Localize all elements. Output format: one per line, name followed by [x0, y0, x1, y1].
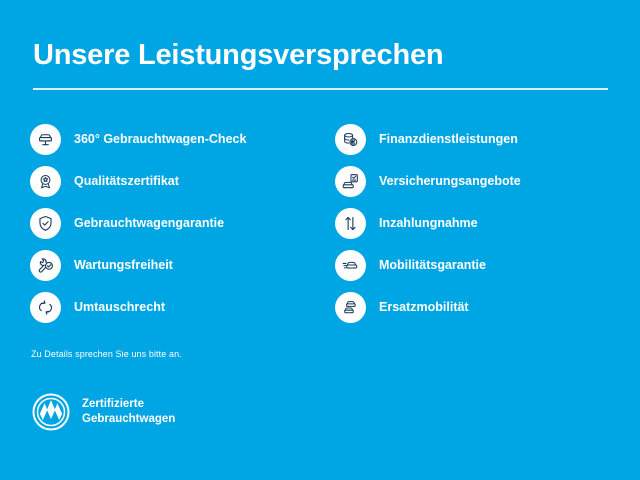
- promise-label: Versicherungsangebote: [379, 174, 521, 189]
- promise-item-gebrauchtwagengarantie[interactable]: Gebrauchtwagengarantie: [30, 202, 330, 244]
- title-divider: [33, 88, 608, 90]
- brand-text-line1: Zertifizierte: [82, 397, 175, 412]
- promise-label: Qualitätszertifikat: [74, 174, 179, 189]
- promise-item-ersatzmobilitaet[interactable]: Ersatzmobilität: [335, 286, 635, 328]
- promise-label: Ersatzmobilität: [379, 300, 469, 315]
- up-down-arrows-icon: [335, 208, 366, 239]
- wrench-check-icon: [30, 250, 61, 281]
- brand-text: Zertifizierte Gebrauchtwagen: [82, 397, 175, 427]
- promise-item-qualitaetszertifikat[interactable]: Qualitätszertifikat: [30, 160, 330, 202]
- promise-column-left: 360° Gebrauchtwagen-Check Qualitätszerti…: [30, 118, 330, 328]
- promises-slide: Unsere Leistungsversprechen 360° Gebrauc…: [0, 0, 640, 480]
- coins-icon: [335, 124, 366, 155]
- brand-text-line2: Gebrauchtwagen: [82, 412, 175, 427]
- car-document-icon: [335, 166, 366, 197]
- promise-label: Umtauschrecht: [74, 300, 165, 315]
- award-rosette-icon: [30, 166, 61, 197]
- promise-item-umtauschrecht[interactable]: Umtauschrecht: [30, 286, 330, 328]
- page-title: Unsere Leistungsversprechen: [33, 38, 443, 72]
- shield-check-icon: [30, 208, 61, 239]
- promise-label: Gebrauchtwagengarantie: [74, 216, 224, 231]
- promise-item-wartungsfreiheit[interactable]: Wartungsfreiheit: [30, 244, 330, 286]
- car-speed-icon: [335, 250, 366, 281]
- promise-label: Mobilitätsgarantie: [379, 258, 486, 273]
- promise-item-versicherungsangebote[interactable]: Versicherungsangebote: [335, 160, 635, 202]
- promise-item-inzahlungnahme[interactable]: Inzahlungnahme: [335, 202, 635, 244]
- footnote-text: Zu Details sprechen Sie uns bitte an.: [31, 349, 182, 359]
- promise-label: 360° Gebrauchtwagen-Check: [74, 132, 246, 147]
- promise-item-finanzdienstleistungen[interactable]: Finanzdienstleistungen: [335, 118, 635, 160]
- brand-footer: Zertifizierte Gebrauchtwagen: [31, 392, 175, 432]
- promise-item-360-check[interactable]: 360° Gebrauchtwagen-Check: [30, 118, 330, 160]
- promise-label: Inzahlungnahme: [379, 216, 478, 231]
- promise-column-right: Finanzdienstleistungen Versicherungsange…: [335, 118, 635, 328]
- car-on-lift-icon: [30, 124, 61, 155]
- volkswagen-logo: [31, 392, 71, 432]
- two-cars-icon: [335, 292, 366, 323]
- promise-item-mobilitaetsgarantie[interactable]: Mobilitätsgarantie: [335, 244, 635, 286]
- promise-label: Finanzdienstleistungen: [379, 132, 518, 147]
- exchange-arrows-icon: [30, 292, 61, 323]
- promise-label: Wartungsfreiheit: [74, 258, 173, 273]
